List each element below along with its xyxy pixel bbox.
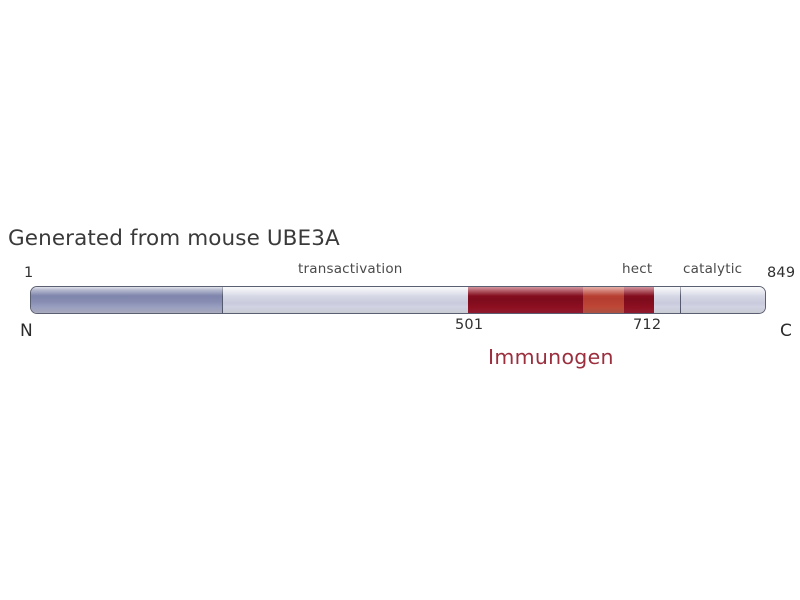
figure-title: Generated from mouse UBE3A <box>8 226 340 252</box>
n-terminus-label: N <box>20 323 33 340</box>
segment-n-terminal <box>31 287 223 313</box>
protein-bar <box>30 286 766 314</box>
segment-catalytic <box>681 287 766 313</box>
residue-end-label: 849 <box>767 266 795 281</box>
position-label-712: 712 <box>633 318 661 333</box>
immunogen-annotation: Immunogen <box>488 347 614 368</box>
segment-linker <box>654 287 681 313</box>
protein-domain-figure: Generated from mouse UBE3A 1 849 transac… <box>0 0 800 600</box>
segment-divider-1 <box>222 287 223 313</box>
domain-label-catalytic: catalytic <box>683 263 742 277</box>
position-label-501: 501 <box>455 318 483 333</box>
segment-immunogen-c <box>624 287 654 313</box>
c-terminus-label: C <box>780 323 792 340</box>
domain-label-hect: hect <box>622 263 652 277</box>
segment-immunogen-a <box>468 287 583 313</box>
domain-label-transactivation: transactivation <box>298 263 403 277</box>
segment-transactivation <box>223 287 468 313</box>
residue-start-label: 1 <box>24 266 33 281</box>
segment-divider-2 <box>680 287 681 313</box>
protein-bar-wrapper <box>30 286 766 314</box>
segment-immunogen-b <box>583 287 624 313</box>
